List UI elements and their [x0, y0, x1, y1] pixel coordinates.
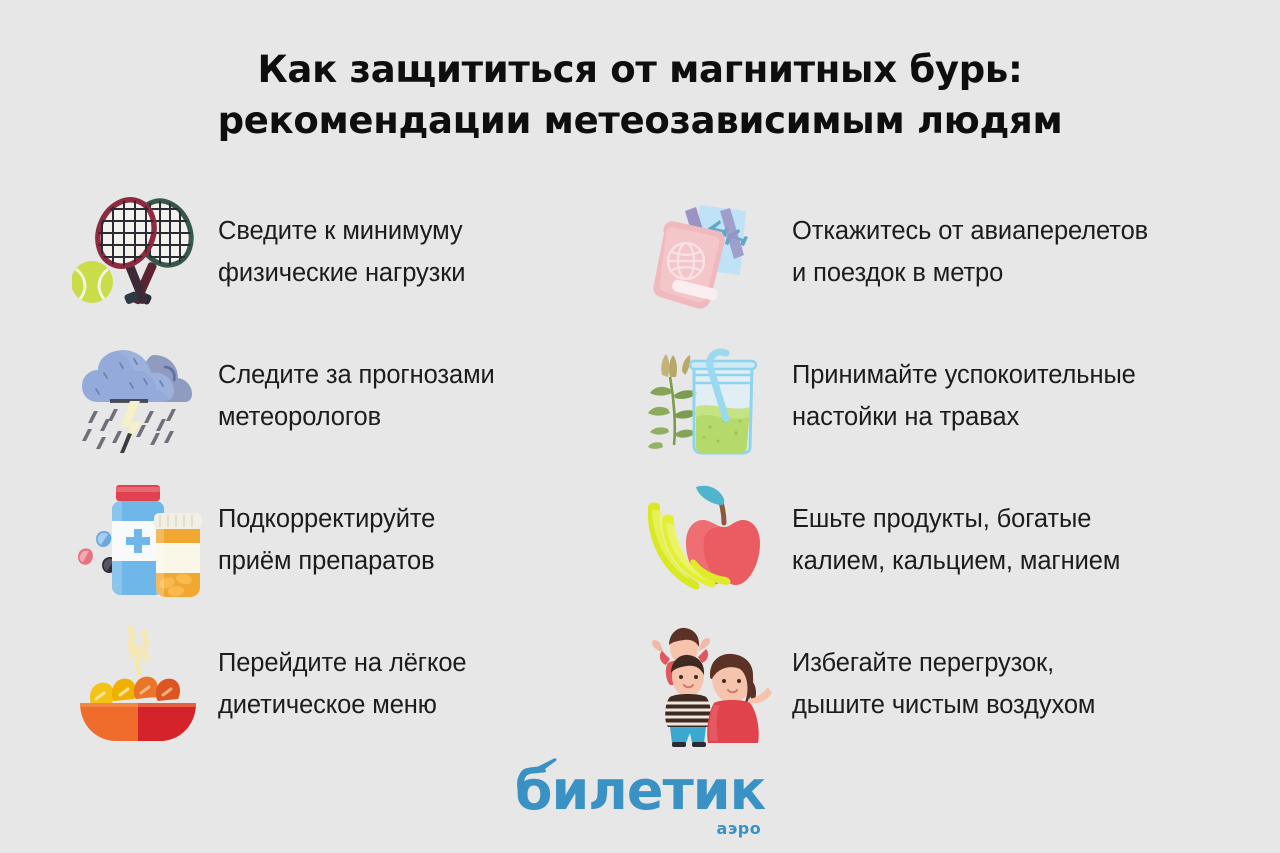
- tip-label: Подкорректируйте приём препаратов: [204, 498, 435, 582]
- tip-item: Избегайте перегрузок, дышите чистым возд…: [620, 614, 1260, 754]
- tip-item: Сведите к минимуму физические нагрузки: [0, 178, 620, 326]
- tip-item: Подкорректируйте приём препаратов: [0, 466, 620, 614]
- tip-label: Избегайте перегрузок, дышите чистым возд…: [772, 642, 1095, 726]
- tip-label: Откажитесь от авиаперелетов и поездок в …: [772, 210, 1148, 294]
- tip-label: Следите за прогнозами метеорологов: [204, 354, 495, 438]
- passport-tickets-icon: [640, 189, 772, 315]
- infographic-poster: Как защититься от магнитных бурь: рекоме…: [0, 0, 1280, 853]
- title-line-1: Как защититься от магнитных бурь:: [0, 44, 1280, 95]
- page-title: Как защититься от магнитных бурь: рекоме…: [0, 0, 1280, 146]
- brand-logo[interactable]: билетик аэро: [0, 762, 1280, 820]
- tip-item: Следите за прогнозами метеорологов: [0, 326, 620, 466]
- tip-label: Сведите к минимуму физические нагрузки: [204, 210, 465, 294]
- tip-label: Ешьте продукты, богатые калием, кальцием…: [772, 498, 1120, 582]
- storm-cloud-icon: [72, 333, 204, 459]
- logo-subtitle: аэро: [717, 819, 762, 838]
- tip-item: Ешьте продукты, богатые калием, кальцием…: [620, 466, 1260, 614]
- tip-label: Перейдите на лёгкое диетическое меню: [204, 642, 467, 726]
- title-line-2: рекомендации метеозависимым людям: [0, 95, 1280, 146]
- herbal-drink-jar-icon: [640, 333, 772, 459]
- airplane-icon: [533, 756, 559, 779]
- tip-label: Принимайте успокоительные настойки на тр…: [772, 354, 1136, 438]
- tennis-rackets-icon: [72, 189, 204, 315]
- banana-apple-icon: [640, 477, 772, 603]
- food-bowl-icon: [72, 621, 204, 747]
- tip-item: Перейдите на лёгкое диетическое меню: [0, 614, 620, 754]
- tips-grid: Сведите к минимуму физические нагрузки: [0, 178, 1280, 754]
- tip-item: Принимайте успокоительные настойки на тр…: [620, 326, 1260, 466]
- medicine-bottles-icon: [72, 477, 204, 603]
- family-icon: [640, 621, 772, 747]
- tip-item: Откажитесь от авиаперелетов и поездок в …: [620, 178, 1260, 326]
